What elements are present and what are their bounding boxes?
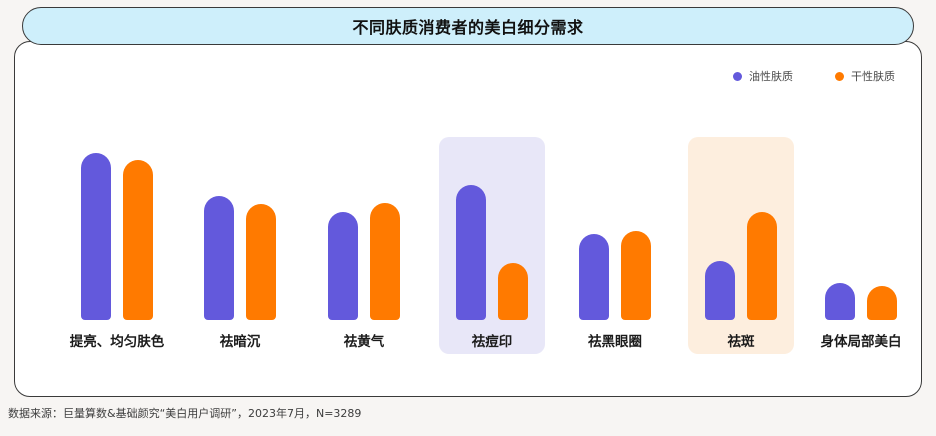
- bar-dry[interactable]: [370, 203, 400, 320]
- bar-oily[interactable]: [204, 196, 234, 320]
- bar-group: [328, 42, 400, 320]
- bar-dry[interactable]: [621, 231, 651, 320]
- bar-dry[interactable]: [246, 204, 276, 320]
- chart-page: 不同肤质消费者的美白细分需求 油性肤质 干性肤质 提亮、均匀肤色祛暗沉祛黄气祛痘…: [0, 0, 936, 436]
- bar-group: [81, 42, 153, 320]
- bar-group: [579, 42, 651, 320]
- bar-oily[interactable]: [81, 153, 111, 320]
- chart-title-bar: 不同肤质消费者的美白细分需求: [22, 7, 914, 45]
- bar-oily[interactable]: [705, 261, 735, 320]
- bar-group: [456, 42, 528, 320]
- bar-oily[interactable]: [579, 234, 609, 320]
- bar-dry[interactable]: [747, 212, 777, 320]
- bar-oily[interactable]: [328, 212, 358, 320]
- bar-oily[interactable]: [825, 283, 855, 320]
- bar-oily[interactable]: [456, 185, 486, 320]
- bar-group: [825, 42, 897, 320]
- bar-dry[interactable]: [498, 263, 528, 320]
- bar-dry[interactable]: [123, 160, 153, 320]
- category-label: 身体局部美白: [771, 330, 922, 350]
- chart-card: 油性肤质 干性肤质 提亮、均匀肤色祛暗沉祛黄气祛痘印祛黑眼圈祛斑身体局部美白: [14, 41, 922, 397]
- bar-group: [705, 42, 777, 320]
- bar-dry[interactable]: [867, 286, 897, 320]
- plot-area: 提亮、均匀肤色祛暗沉祛黄气祛痘印祛黑眼圈祛斑身体局部美白: [15, 42, 921, 396]
- source-note: 数据来源：巨量算数&基础颜究“美白用户调研”，2023年7月，N=3289: [8, 405, 361, 421]
- bar-group: [204, 42, 276, 320]
- page-title: 不同肤质消费者的美白细分需求: [352, 14, 583, 38]
